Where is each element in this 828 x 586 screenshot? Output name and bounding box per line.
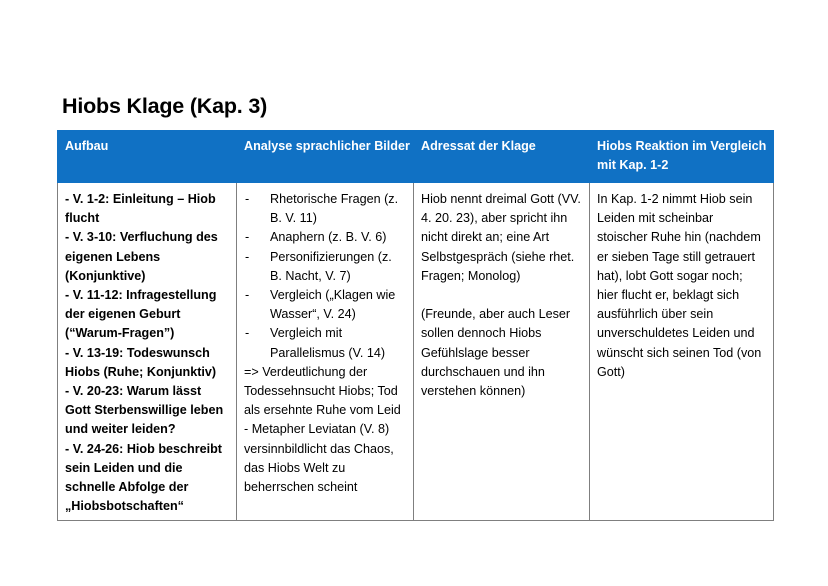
cell-reaktion-text: In Kap. 1-2 nimmt Hiob sein Leiden mit s…	[597, 190, 767, 382]
cell-reaktion: In Kap. 1-2 nimmt Hiob sein Leiden mit s…	[590, 183, 774, 521]
text-line: Hiob nennt dreimal Gott (VV. 4. 20. 23),…	[421, 190, 583, 286]
list-item: -Vergleich mit Parallelismus (V. 14)	[244, 324, 407, 362]
text-line: - V. 3-10: Verfluchung des eigenen Leben…	[65, 228, 230, 286]
list-item-label: Vergleich mit Parallelismus (V. 14)	[270, 326, 385, 359]
cell-aufbau-text: - V. 1-2: Einleitung – Hiob flucht- V. 3…	[65, 190, 230, 516]
page-title: Hiobs Klage (Kap. 3)	[62, 94, 267, 119]
document-page: Hiobs Klage (Kap. 3) Aufbau Analyse spra…	[0, 0, 828, 586]
column-header-adressat: Adressat der Klage	[414, 131, 590, 183]
list-item-label: Personifizierungen (z. B. Nacht, V. 7)	[270, 250, 392, 283]
text-line: In Kap. 1-2 nimmt Hiob sein Leiden mit s…	[597, 190, 767, 382]
cell-aufbau: - V. 1-2: Einleitung – Hiob flucht- V. 3…	[58, 183, 237, 521]
klage-comparison-table: Aufbau Analyse sprachlicher Bilder Adres…	[57, 130, 774, 521]
cell-adressat-text: Hiob nennt dreimal Gott (VV. 4. 20. 23),…	[421, 190, 583, 401]
text-line: (Freunde, aber auch Leser sollen dennoch…	[421, 305, 583, 401]
list-item-label: Anaphern (z. B. V. 6)	[270, 230, 386, 244]
column-header-reaktion: Hiobs Reaktion im Vergleich mit Kap. 1-2	[590, 131, 774, 183]
table-row: - V. 1-2: Einleitung – Hiob flucht- V. 3…	[58, 183, 774, 521]
text-line: - V. 13-19: Todeswunsch Hiobs (Ruhe; Kon…	[65, 344, 230, 382]
text-line	[421, 286, 583, 305]
list-item: -Vergleich („Klagen wie Wasser“, V. 24)	[244, 286, 407, 324]
list-item: -Personifizierungen (z. B. Nacht, V. 7)	[244, 248, 407, 286]
column-header-aufbau: Aufbau	[58, 131, 237, 183]
cell-analyse-trailing-text: => Verdeutlichung der Todessehnsucht Hio…	[244, 363, 407, 497]
dash-bullet-icon: -	[245, 286, 249, 305]
text-line: => Verdeutlichung der Todessehnsucht Hio…	[244, 363, 407, 421]
text-line: - Metapher Leviatan (V. 8) versinnbildli…	[244, 420, 407, 497]
text-line: - V. 24-26: Hiob beschreibt sein Leiden …	[65, 440, 230, 517]
dash-bullet-icon: -	[245, 324, 249, 343]
list-item: -Anaphern (z. B. V. 6)	[244, 228, 407, 247]
dash-bullet-icon: -	[245, 228, 249, 247]
text-line: - V. 1-2: Einleitung – Hiob flucht	[65, 190, 230, 228]
list-item-label: Vergleich („Klagen wie Wasser“, V. 24)	[270, 288, 395, 321]
cell-analyse-bullet-list: -Rhetorische Fragen (z. B. V. 11)-Anaphe…	[244, 190, 407, 363]
list-item-label: Rhetorische Fragen (z. B. V. 11)	[270, 192, 398, 225]
dash-bullet-icon: -	[245, 248, 249, 267]
column-header-analyse: Analyse sprachlicher Bilder	[237, 131, 414, 183]
dash-bullet-icon: -	[245, 190, 249, 209]
table-header-row: Aufbau Analyse sprachlicher Bilder Adres…	[58, 131, 774, 183]
cell-analyse: -Rhetorische Fragen (z. B. V. 11)-Anaphe…	[237, 183, 414, 521]
list-item: -Rhetorische Fragen (z. B. V. 11)	[244, 190, 407, 228]
text-line: - V. 11-12: Infragestellung der eigenen …	[65, 286, 230, 344]
text-line: - V. 20-23: Warum lässt Gott Sterbenswil…	[65, 382, 230, 440]
cell-adressat: Hiob nennt dreimal Gott (VV. 4. 20. 23),…	[414, 183, 590, 521]
